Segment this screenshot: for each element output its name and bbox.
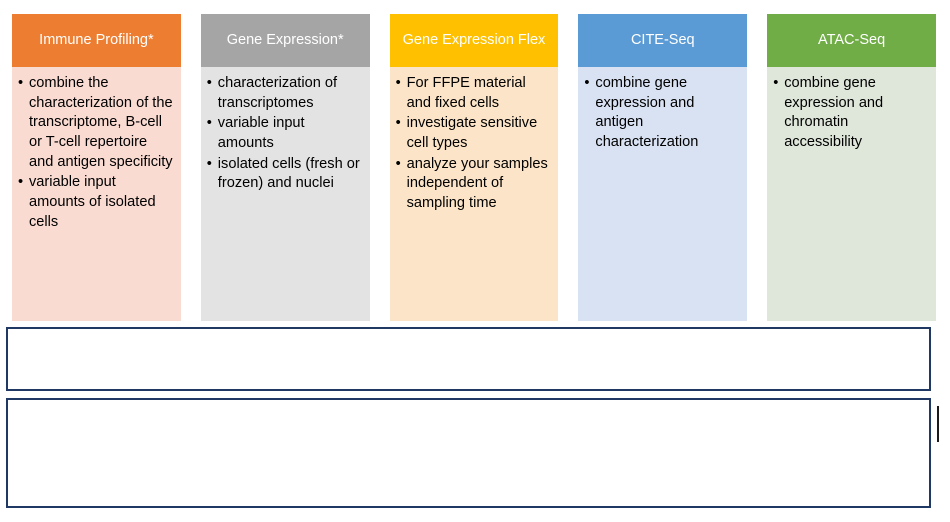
column-header-immune-profiling: Immune Profiling* [12,14,181,67]
bullet-item: isolated cells (fresh or frozen) and nuc… [207,155,364,194]
column-header-atac-seq: ATAC-Seq [767,14,936,67]
service-column-gene-expression-flex: Gene Expression FlexFor FFPE material an… [390,14,559,321]
banner-multiplexing: Multiplexing Solutions to analyze larger… [6,327,931,391]
bullet-item: analyze your samples independent of samp… [396,155,553,214]
bullet-item: combine gene expression and chromatin ac… [773,74,930,153]
column-body-gene-expression-flex: For FFPE material and fixed cellsinvesti… [390,67,559,321]
column-header-gene-expression: Gene Expression* [201,14,370,67]
bullet-item: variable input amounts of isolated cells [18,173,175,232]
service-column-atac-seq: ATAC-Seqcombine gene expression and chro… [767,14,936,321]
column-body-immune-profiling: combine the characterization of the tran… [12,67,181,321]
bullet-item: combine the characterization of the tran… [18,74,175,172]
column-header-cite-seq: CITE-Seq [578,14,747,67]
bullet-item: characterization of transcriptomes [207,74,364,113]
column-title-immune-profiling: Immune Profiling* [39,31,153,49]
service-column-gene-expression: Gene Expression*characterization of tran… [201,14,370,321]
column-body-atac-seq: combine gene expression and chromatin ac… [767,67,936,321]
bullet-list-immune-profiling: combine the characterization of the tran… [18,74,175,233]
bullet-list-gene-expression: characterization of transcriptomesvariab… [207,74,364,194]
column-title-cite-seq: CITE-Seq [631,31,695,49]
banner-bioinformatic: Bioinformatic analysis of your project o… [6,398,931,508]
column-body-gene-expression: characterization of transcriptomesvariab… [201,67,370,321]
bullet-list-gene-expression-flex: For FFPE material and fixed cellsinvesti… [396,74,553,214]
bullet-item: investigate sensitive cell types [396,114,553,153]
column-title-gene-expression: Gene Expression* [227,31,344,49]
column-title-atac-seq: ATAC-Seq [818,31,885,49]
service-column-immune-profiling: Immune Profiling*combine the characteriz… [12,14,181,321]
bullet-list-atac-seq: combine gene expression and chromatin ac… [773,74,930,153]
column-title-gene-expression-flex: Gene Expression Flex [403,31,546,49]
banner-bioinformatic-text: Bioinformatic analysis of your project o… [8,425,929,482]
column-header-gene-expression-flex: Gene Expression Flex [390,14,559,67]
bullet-list-cite-seq: combine gene expression and antigen char… [584,74,741,153]
text-cursor-caret [937,406,939,442]
banner-multiplexing-text: Multiplexing Solutions to analyze larger… [92,345,845,373]
bullet-item: combine gene expression and antigen char… [584,74,741,153]
bullet-item: For FFPE material and fixed cells [396,74,553,113]
service-columns-row: Immune Profiling*combine the characteriz… [12,14,936,321]
service-column-cite-seq: CITE-Seqcombine gene expression and anti… [578,14,747,321]
bullet-item: variable input amounts [207,114,364,153]
column-body-cite-seq: combine gene expression and antigen char… [578,67,747,321]
